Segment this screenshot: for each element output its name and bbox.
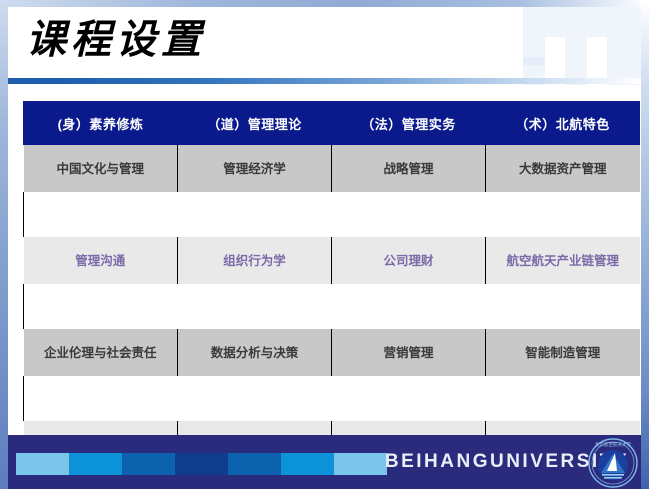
table-cell: 航空航天产业链管理 xyxy=(486,237,640,284)
svg-text:北京航空航天大学: 北京航空航天大学 xyxy=(595,441,631,448)
table-row: 中国文化与管理管理经济学战略管理大数据资产管理 xyxy=(24,145,640,192)
column-header-3: （术）北航特色 xyxy=(486,101,640,145)
beihang-university-seal-icon: 北京航空航天大学 xyxy=(587,437,639,489)
table-cell: 组织行为学 xyxy=(178,237,332,284)
course-table-container: (身）素养修炼 （道）管理理论 （法）管理实务 （术）北航特色 中国文化与管理管… xyxy=(23,101,627,489)
footer-swatch-3 xyxy=(175,453,228,475)
footer-swatch-2 xyxy=(122,453,175,475)
footer-swatch-6 xyxy=(334,453,387,475)
title-area: 课程设置 xyxy=(8,8,641,76)
table-cell: 大数据资产管理 xyxy=(486,145,640,192)
footer-band: BEIHANGUNIVERSITY 北京航空航天大学 xyxy=(8,435,641,489)
table-cell: 管理经济学 xyxy=(178,145,332,192)
table-cell: 营销管理 xyxy=(332,329,486,376)
table-row-gap xyxy=(24,376,640,421)
table-row-gap-cell xyxy=(24,284,640,329)
title-divider-rule xyxy=(8,78,641,84)
slide-canvas: 课程设置 (身）素养修炼 （道）管理理论 （法）管理实务 （术）北航特色 中国文… xyxy=(0,0,649,489)
column-header-2: （法）管理实务 xyxy=(332,101,486,145)
footer-color-swatches xyxy=(16,453,387,475)
table-cell: 企业伦理与社会责任 xyxy=(24,329,178,376)
footer-swatch-1 xyxy=(69,453,122,475)
frame-top-border xyxy=(0,0,649,7)
table-cell: 中国文化与管理 xyxy=(24,145,178,192)
footer-swatch-0 xyxy=(16,453,69,475)
table-cell: 管理沟通 xyxy=(24,237,178,284)
table-header-row: (身）素养修炼 （道）管理理论 （法）管理实务 （术）北航特色 xyxy=(24,101,640,145)
column-header-1: （道）管理理论 xyxy=(178,101,332,145)
table-row-gap xyxy=(24,192,640,237)
table-cell: 智能制造管理 xyxy=(486,329,640,376)
column-header-0: (身）素养修炼 xyxy=(24,101,178,145)
course-table-head: (身）素养修炼 （道）管理理论 （法）管理实务 （术）北航特色 xyxy=(24,101,640,145)
table-cell: 公司理财 xyxy=(332,237,486,284)
table-cell: 战略管理 xyxy=(332,145,486,192)
table-row-gap-cell xyxy=(24,376,640,421)
page-title: 课程设置 xyxy=(26,10,206,70)
table-cell: 数据分析与决策 xyxy=(178,329,332,376)
table-row: 企业伦理与社会责任数据分析与决策营销管理智能制造管理 xyxy=(24,329,640,376)
table-row-gap-cell xyxy=(24,192,640,237)
frame-right-border xyxy=(641,0,649,489)
footer-swatch-4 xyxy=(228,453,281,475)
frame-left-border xyxy=(0,0,8,489)
table-row-gap xyxy=(24,284,640,329)
footer-swatch-5 xyxy=(281,453,334,475)
table-row: 管理沟通组织行为学公司理财航空航天产业链管理 xyxy=(24,237,640,284)
course-table: (身）素养修炼 （道）管理理论 （法）管理实务 （术）北航特色 中国文化与管理管… xyxy=(23,101,640,489)
